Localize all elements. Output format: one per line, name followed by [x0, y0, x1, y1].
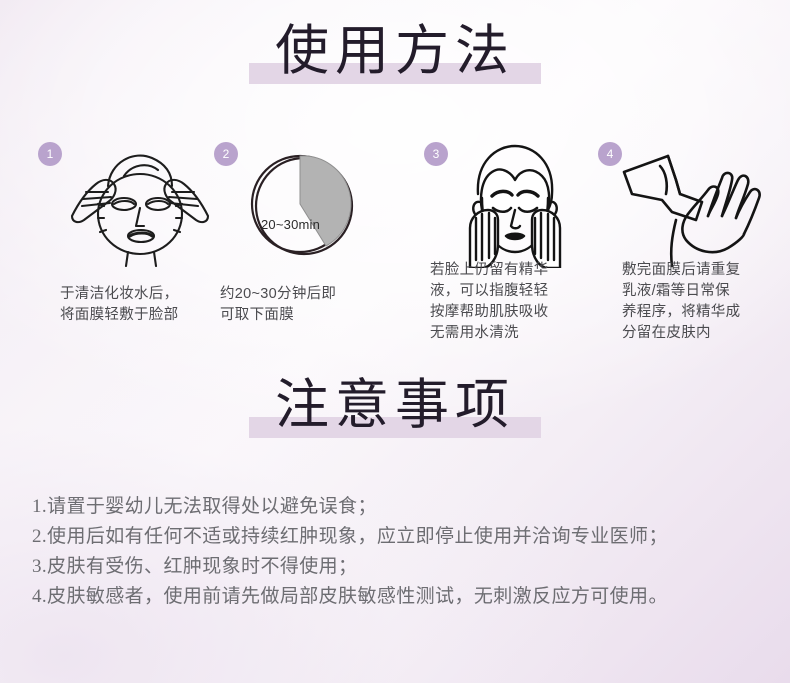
- face-with-sheet-mask-hands-applying-icon: [64, 142, 214, 272]
- step-3-number-badge: 3: [424, 142, 448, 166]
- caution-item: 1.请置于婴幼儿无法取得处以避免误食；: [32, 492, 762, 522]
- clock-duration-text: 20~30min: [261, 217, 320, 232]
- cautions-heading-wrap: 注意事项: [0, 378, 790, 432]
- cautions-list: 1.请置于婴幼儿无法取得处以避免误食； 2.使用后如有任何不适或持续红肿现象，应…: [32, 492, 762, 612]
- product-instructions-page: 使用方法 1: [0, 0, 790, 683]
- step-2-caption: 约20~30分钟后即 可取下面膜: [220, 284, 390, 326]
- bottle-dispensing-into-palm-icon: [616, 150, 766, 273]
- step-1-number-badge: 1: [38, 142, 62, 166]
- step-2-number-badge: 2: [214, 142, 238, 166]
- step-1-caption: 于清洁化妆水后， 将面膜轻敷于脸部: [60, 284, 240, 326]
- clock-duration-label: 20~30min: [261, 216, 320, 234]
- step-3-caption: 若脸上仍留有精华 液，可以指腹轻轻 按摩帮助肌肤吸收 无需用水清洗: [430, 260, 605, 344]
- caution-item: 2.使用后如有任何不适或持续红肿现象，应立即停止使用并洽询专业医师；: [32, 522, 762, 552]
- steps-row: 1: [0, 132, 790, 352]
- face-massage-two-hands-icon: [450, 140, 580, 273]
- usage-heading: 使用方法: [271, 24, 519, 78]
- clock-timer-icon: [248, 150, 358, 265]
- usage-heading-text: 使用方法: [275, 21, 515, 81]
- caution-item: 4.皮肤敏感者，使用前请先做局部皮肤敏感性测试，无刺激反应方可使用。: [32, 582, 762, 612]
- usage-heading-wrap: 使用方法: [0, 24, 790, 78]
- cautions-heading: 注意事项: [271, 378, 519, 432]
- caution-item: 3.皮肤有受伤、红肿现象时不得使用；: [32, 552, 762, 582]
- step-4-caption: 敷完面膜后请重复 乳液/霜等日常保 养程序，将精华成 分留在皮肤内: [622, 260, 790, 344]
- cautions-heading-text: 注意事项: [275, 375, 515, 435]
